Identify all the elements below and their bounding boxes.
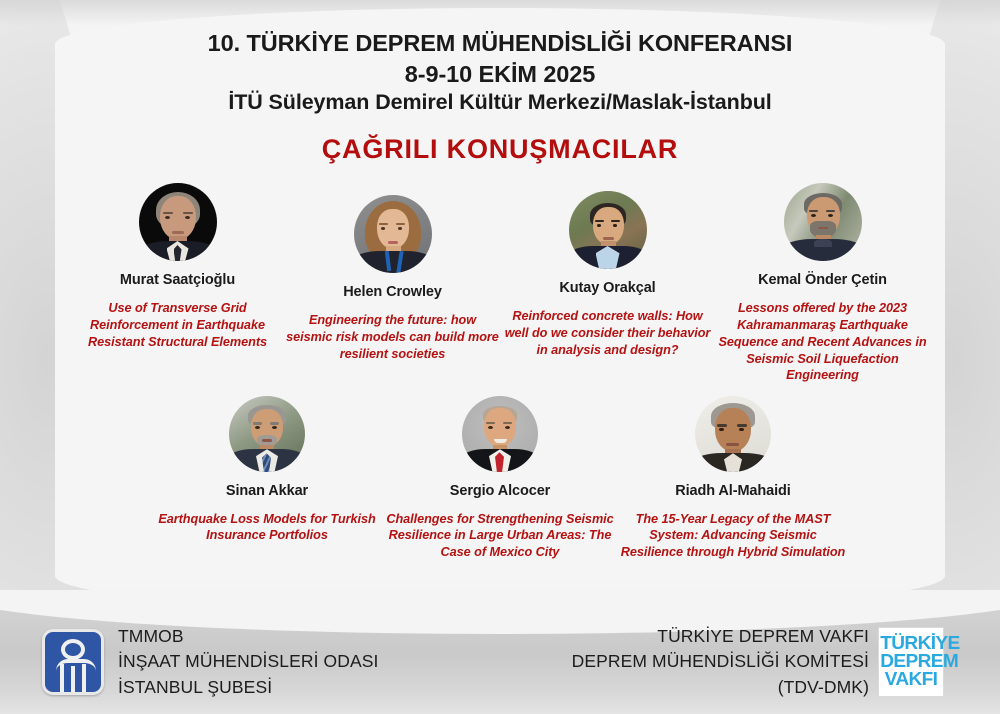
speaker-name: Sinan Akkar xyxy=(226,483,308,500)
speaker-name: Riadh Al-Mahaidi xyxy=(675,483,790,500)
speaker-card-kutay-orakcal: Kutay Orakçal Reinforced concrete walls:… xyxy=(500,191,715,359)
speakers-row-1: Murat Saatçioğlu Use of Transverse Grid … xyxy=(0,183,1000,384)
footer-inner: TMMOB İNŞAAT MÜHENDİSLERİ ODASI İSTANBUL… xyxy=(0,610,1000,714)
poster-footer: TMMOB İNŞAAT MÜHENDİSLERİ ODASI İSTANBUL… xyxy=(0,610,1000,714)
conference-venue: İTÜ Süleyman Demirel Kültür Merkezi/Masl… xyxy=(0,89,1000,117)
tmmob-figure-leg-left-icon xyxy=(60,664,64,692)
portrait-murat-saatcioglu xyxy=(139,183,217,261)
conference-poster: 10. TÜRKİYE DEPREM MÜHENDİSLİĞİ KONFERAN… xyxy=(0,0,1000,714)
tmmob-line-3: İSTANBUL ŞUBESİ xyxy=(118,675,379,700)
speaker-talk-title: Engineering the future: how seismic risk… xyxy=(285,312,500,362)
tmmob-line-1: TMMOB xyxy=(118,624,379,649)
tmmob-figure-head-icon xyxy=(61,639,85,660)
portrait-sergio-alcocer xyxy=(462,396,538,472)
speakers-row-2: Sinan Akkar Earthquake Loss Models for T… xyxy=(0,396,1000,561)
speaker-talk-title: The 15-Year Legacy of the MAST System: A… xyxy=(617,511,850,561)
organizer-tmmob: TMMOB İNŞAAT MÜHENDİSLERİ ODASI İSTANBUL… xyxy=(42,624,379,700)
portrait-riadh-al-mahaidi xyxy=(695,396,771,472)
speaker-name: Helen Crowley xyxy=(343,284,442,301)
tdv-logo-word-3: VAKFI xyxy=(880,671,941,689)
tmmob-figure-leg-right-icon xyxy=(82,664,86,692)
conference-dates: 8-9-10 EKİM 2025 xyxy=(0,59,1000,90)
speaker-talk-title: Lessons offered by the 2023 Kahramanmara… xyxy=(715,300,930,384)
speaker-card-murat-saatcioglu: Murat Saatçioğlu Use of Transverse Grid … xyxy=(70,183,285,351)
conference-title-line-1: 10. TÜRKİYE DEPREM MÜHENDİSLİĞİ KONFERAN… xyxy=(0,28,1000,59)
portrait-kemal-onder-cetin xyxy=(784,183,862,261)
speaker-name: Murat Saatçioğlu xyxy=(120,272,235,289)
section-title-invited-speakers: ÇAĞRILI KONUŞMACILAR xyxy=(0,134,1000,165)
speaker-talk-title: Use of Transverse Grid Reinforcement in … xyxy=(70,300,285,350)
speaker-card-kemal-onder-cetin: Kemal Önder Çetin Lessons offered by the… xyxy=(715,183,930,384)
tdv-line-3: (TDV-DMK) xyxy=(572,675,869,700)
tmmob-figure-leg-mid-icon xyxy=(71,666,75,692)
speaker-talk-title: Challenges for Strengthening Seismic Res… xyxy=(384,511,617,561)
speaker-name: Kemal Önder Çetin xyxy=(758,272,887,289)
speaker-card-riadh-al-mahaidi: Riadh Al-Mahaidi The 15-Year Legacy of t… xyxy=(617,396,850,561)
tmmob-logo-icon xyxy=(42,629,104,695)
portrait-kutay-orakcal xyxy=(569,191,647,269)
portrait-sinan-akkar xyxy=(229,396,305,472)
speaker-name: Kutay Orakçal xyxy=(559,280,655,297)
speaker-talk-title: Earthquake Loss Models for Turkish Insur… xyxy=(151,511,384,545)
tmmob-text-block: TMMOB İNŞAAT MÜHENDİSLERİ ODASI İSTANBUL… xyxy=(118,624,379,700)
tdv-line-1: TÜRKİYE DEPREM VAKFI xyxy=(572,624,869,649)
speaker-talk-title: Reinforced concrete walls: How well do w… xyxy=(500,308,715,358)
poster-header: 10. TÜRKİYE DEPREM MÜHENDİSLİĞİ KONFERAN… xyxy=(0,0,1000,165)
portrait-helen-crowley xyxy=(354,195,432,273)
speaker-card-sergio-alcocer: Sergio Alcocer Challenges for Strengthen… xyxy=(384,396,617,561)
tdv-line-2: DEPREM MÜHENDİSLİĞİ KOMİTESİ xyxy=(572,649,869,674)
tdv-text-block: TÜRKİYE DEPREM VAKFI DEPREM MÜHENDİSLİĞİ… xyxy=(572,624,869,700)
organizer-tdv: TÜRKİYE DEPREM VAKFI DEPREM MÜHENDİSLİĞİ… xyxy=(572,624,944,700)
tmmob-line-2: İNŞAAT MÜHENDİSLERİ ODASI xyxy=(118,649,379,674)
speaker-card-helen-crowley: Helen Crowley Engineering the future: ho… xyxy=(285,195,500,363)
speaker-card-sinan-akkar: Sinan Akkar Earthquake Loss Models for T… xyxy=(151,396,384,544)
tdv-logo-icon: TÜRKİYE DEPREM VAKFI xyxy=(878,627,944,697)
speaker-name: Sergio Alcocer xyxy=(450,483,550,500)
